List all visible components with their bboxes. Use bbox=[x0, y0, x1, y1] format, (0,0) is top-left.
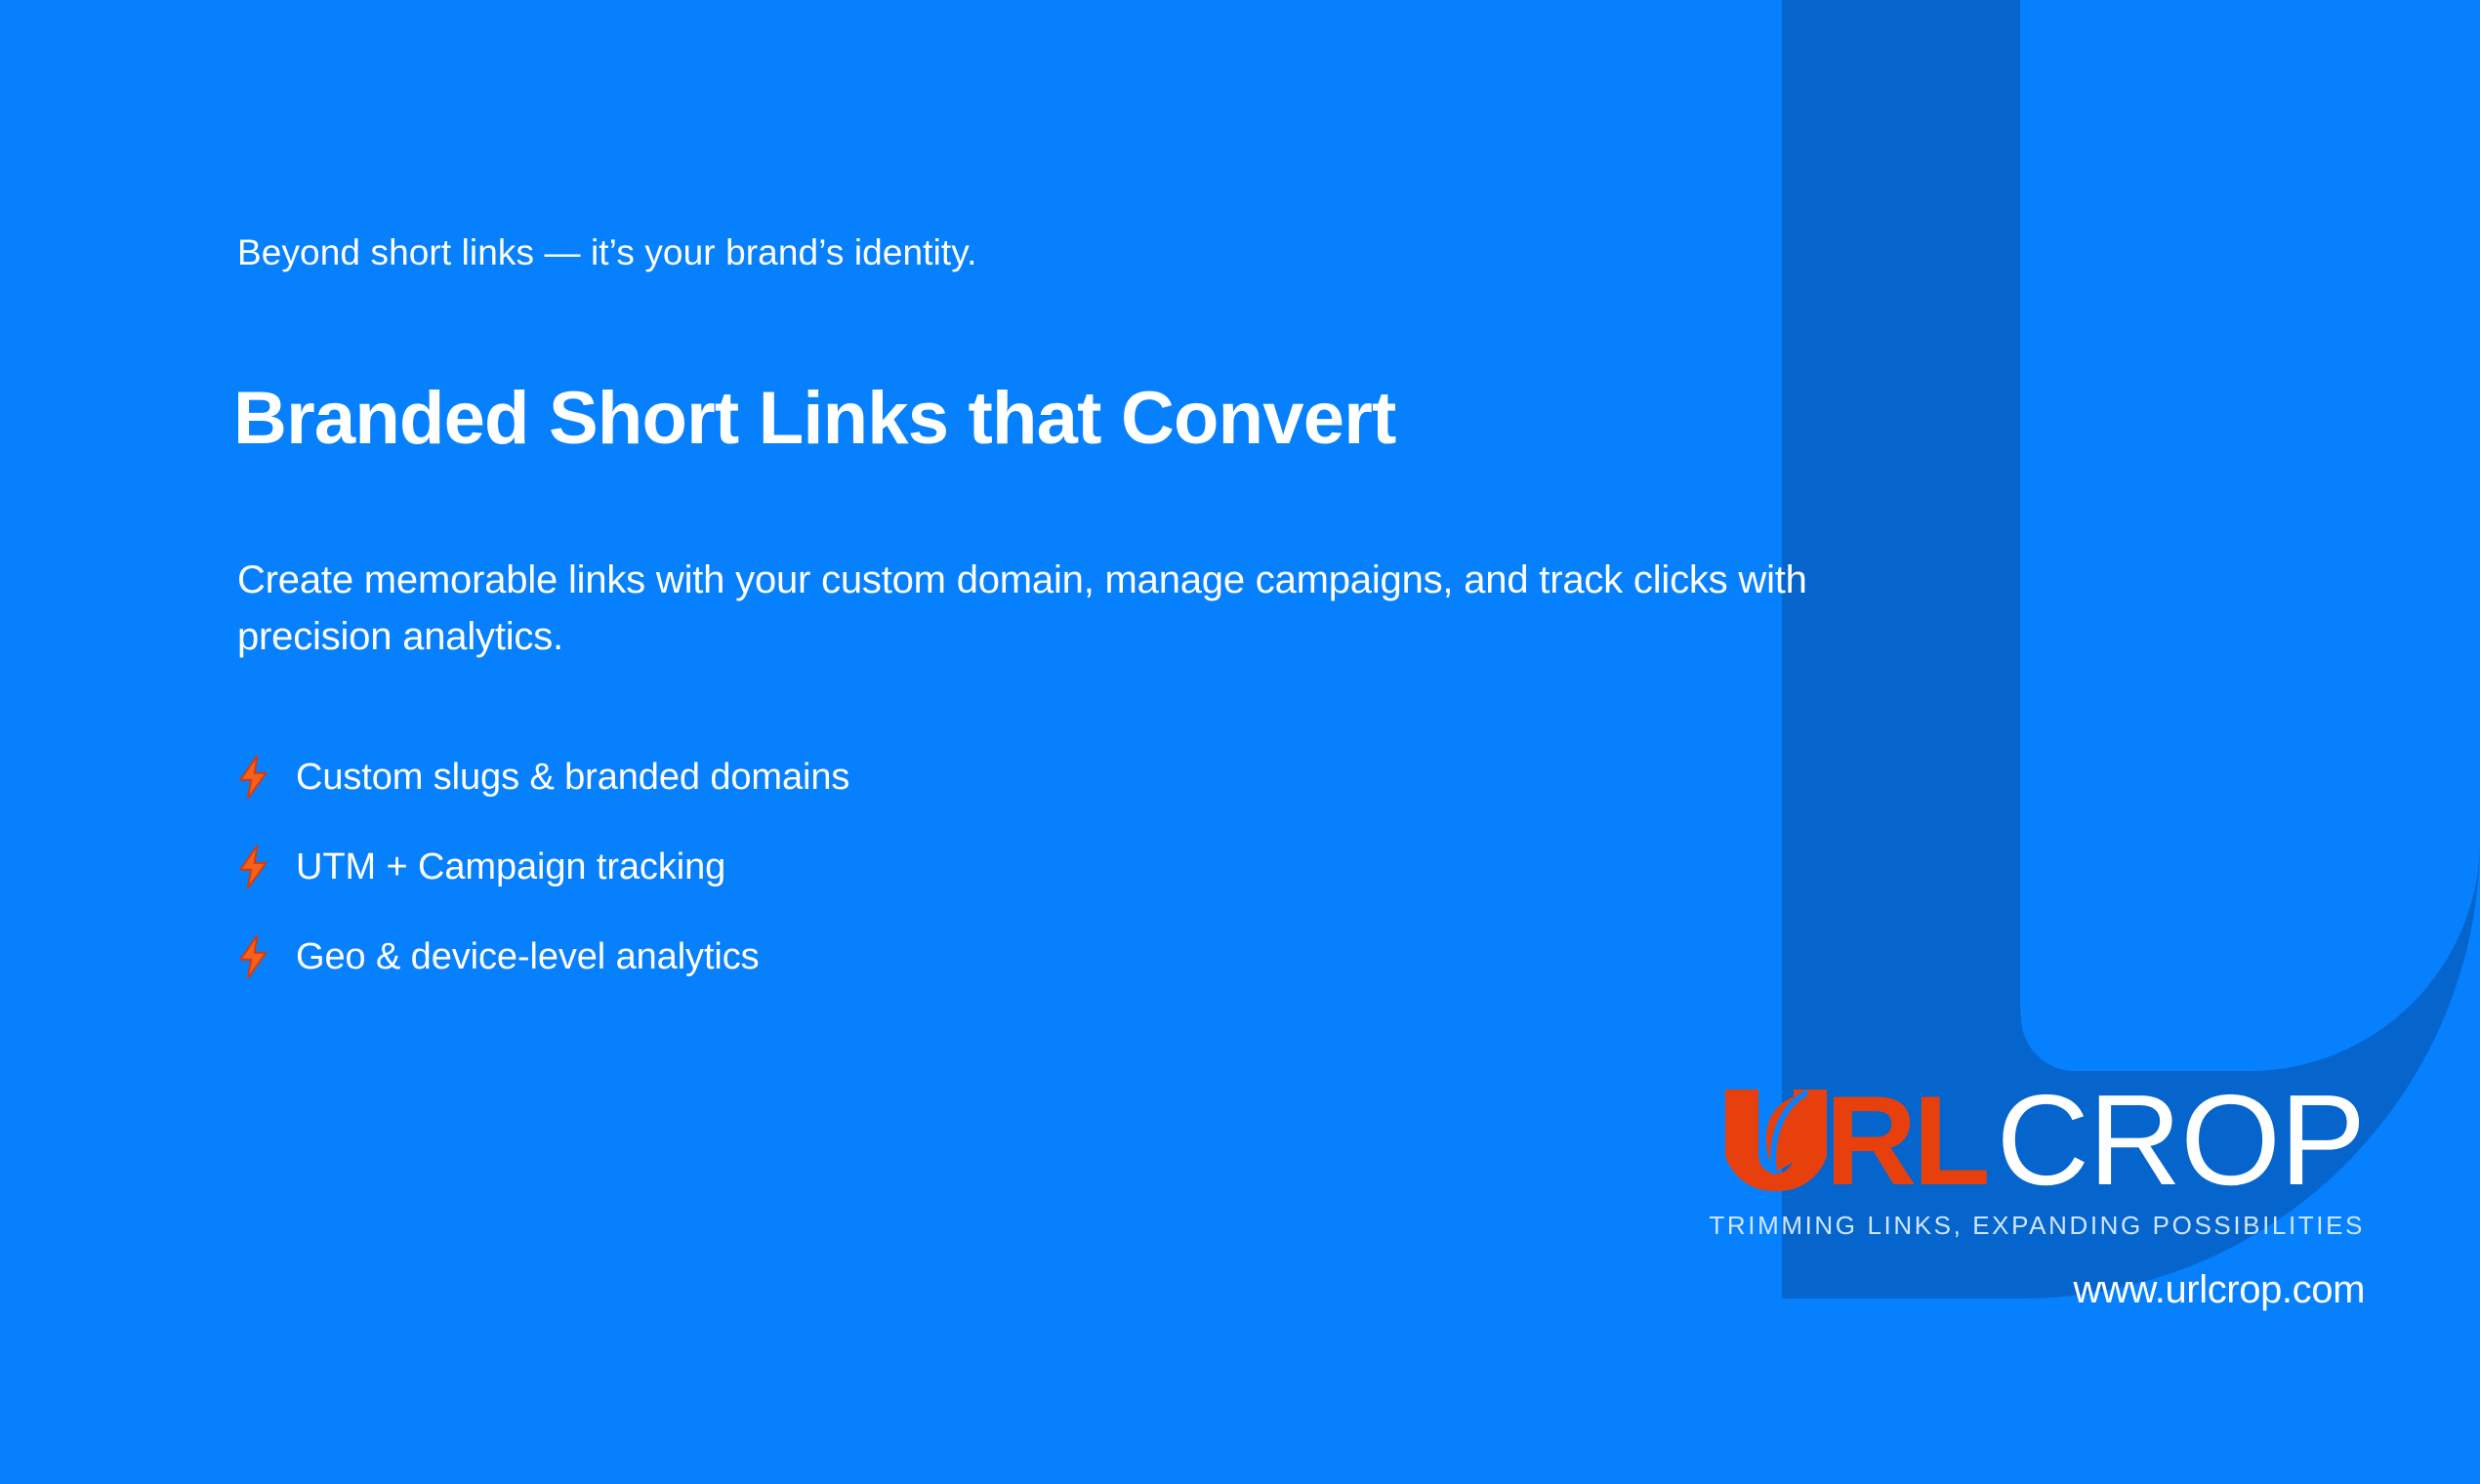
url-crop-leaf-u-icon bbox=[1721, 1088, 1831, 1193]
lightning-bolt-icon bbox=[237, 756, 296, 799]
logo-wordmark: RL CROP bbox=[1623, 1080, 2365, 1193]
list-item: Geo & device-level analytics bbox=[237, 912, 849, 1002]
brand-logo-block: RL CROP TRIMMING LINKS, EXPANDING POSSIB… bbox=[1623, 1080, 2365, 1312]
slide-canvas: Beyond short links — it’s your brand’s i… bbox=[0, 0, 2480, 1484]
hero-body-copy: Create memorable links with your custom … bbox=[237, 552, 1819, 665]
logo-tagline: TRIMMING LINKS, EXPANDING POSSIBILITIES bbox=[1623, 1211, 2365, 1241]
logo-url-group: RL bbox=[1721, 1088, 1986, 1193]
logo-text-crop: CROP bbox=[1997, 1088, 2365, 1193]
headline-emphasis: Short Links bbox=[549, 377, 948, 460]
hero-eyebrow: Beyond short links — it’s your brand’s i… bbox=[237, 232, 977, 273]
lightning-bolt-icon bbox=[237, 935, 296, 978]
feature-list: Custom slugs & branded domains UTM + Cam… bbox=[237, 732, 849, 1002]
list-item: Custom slugs & branded domains bbox=[237, 732, 849, 822]
hero-content: Beyond short links — it’s your brand’s i… bbox=[237, 0, 1760, 1484]
list-item-label: UTM + Campaign tracking bbox=[296, 846, 725, 888]
headline-part-2: that Convert bbox=[948, 377, 1395, 460]
logo-text-rl: RL bbox=[1825, 1089, 1986, 1193]
lightning-bolt-icon bbox=[237, 845, 296, 888]
list-item-label: Custom slugs & branded domains bbox=[296, 757, 849, 799]
headline-part-1: Branded bbox=[233, 377, 549, 460]
website-url: www.urlcrop.com bbox=[1623, 1268, 2365, 1312]
list-item-label: Geo & device-level analytics bbox=[296, 936, 760, 978]
page-title: Branded Short Links that Convert bbox=[233, 380, 1396, 458]
list-item: UTM + Campaign tracking bbox=[237, 822, 849, 912]
